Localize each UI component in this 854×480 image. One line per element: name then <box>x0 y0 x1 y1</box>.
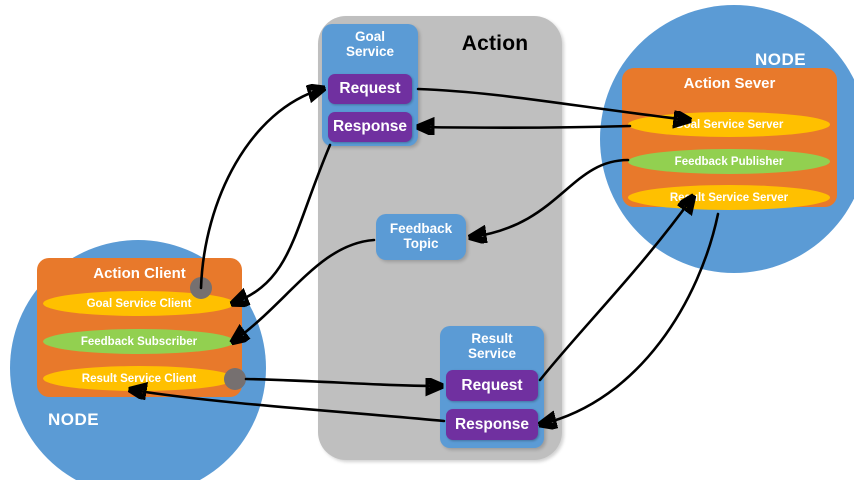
arrow-goalresponse-to-goalclient <box>234 145 330 303</box>
result-service-server-pill[interactable]: Result Service Server <box>628 185 830 210</box>
server-node-label: NODE <box>755 50 806 70</box>
feedback-publisher-pill[interactable]: Feedback Publisher <box>628 149 830 174</box>
feedback-topic-title-line1: Feedback <box>376 221 466 236</box>
result-service-response-box[interactable]: Response <box>446 409 538 440</box>
feedback-topic-box[interactable]: Feedback Topic <box>376 214 466 260</box>
feedback-subscriber-pill[interactable]: Feedback Subscriber <box>43 329 235 354</box>
result-client-connector-dot <box>224 368 246 390</box>
result-service-title-line2: Service <box>440 346 544 361</box>
result-service-title-line1: Result <box>440 331 544 346</box>
goal-client-connector-dot <box>190 277 212 299</box>
action-group-title: Action <box>430 32 560 56</box>
goal-service-request-box[interactable]: Request <box>328 74 412 104</box>
result-service-client-pill[interactable]: Result Service Client <box>43 366 235 391</box>
goal-service-response-box[interactable]: Response <box>328 112 412 142</box>
goal-service-title: Goal Service <box>322 24 418 63</box>
result-service-request-box[interactable]: Request <box>446 370 538 401</box>
client-node-label: NODE <box>48 410 99 430</box>
goal-service-server-pill[interactable]: Goal Service Server <box>628 112 830 137</box>
goal-service-title-line2: Service <box>322 44 418 59</box>
action-server-title: Action Sever <box>622 68 837 92</box>
result-service-title: Result Service <box>440 326 544 365</box>
goal-service-title-line1: Goal <box>322 29 418 44</box>
feedback-topic-title-line2: Topic <box>376 236 466 251</box>
action-client-title: Action Client <box>37 258 242 282</box>
diagram-canvas: Action NODE Action Sever Goal Service Se… <box>0 0 854 480</box>
feedback-topic-title: Feedback Topic <box>376 214 466 261</box>
